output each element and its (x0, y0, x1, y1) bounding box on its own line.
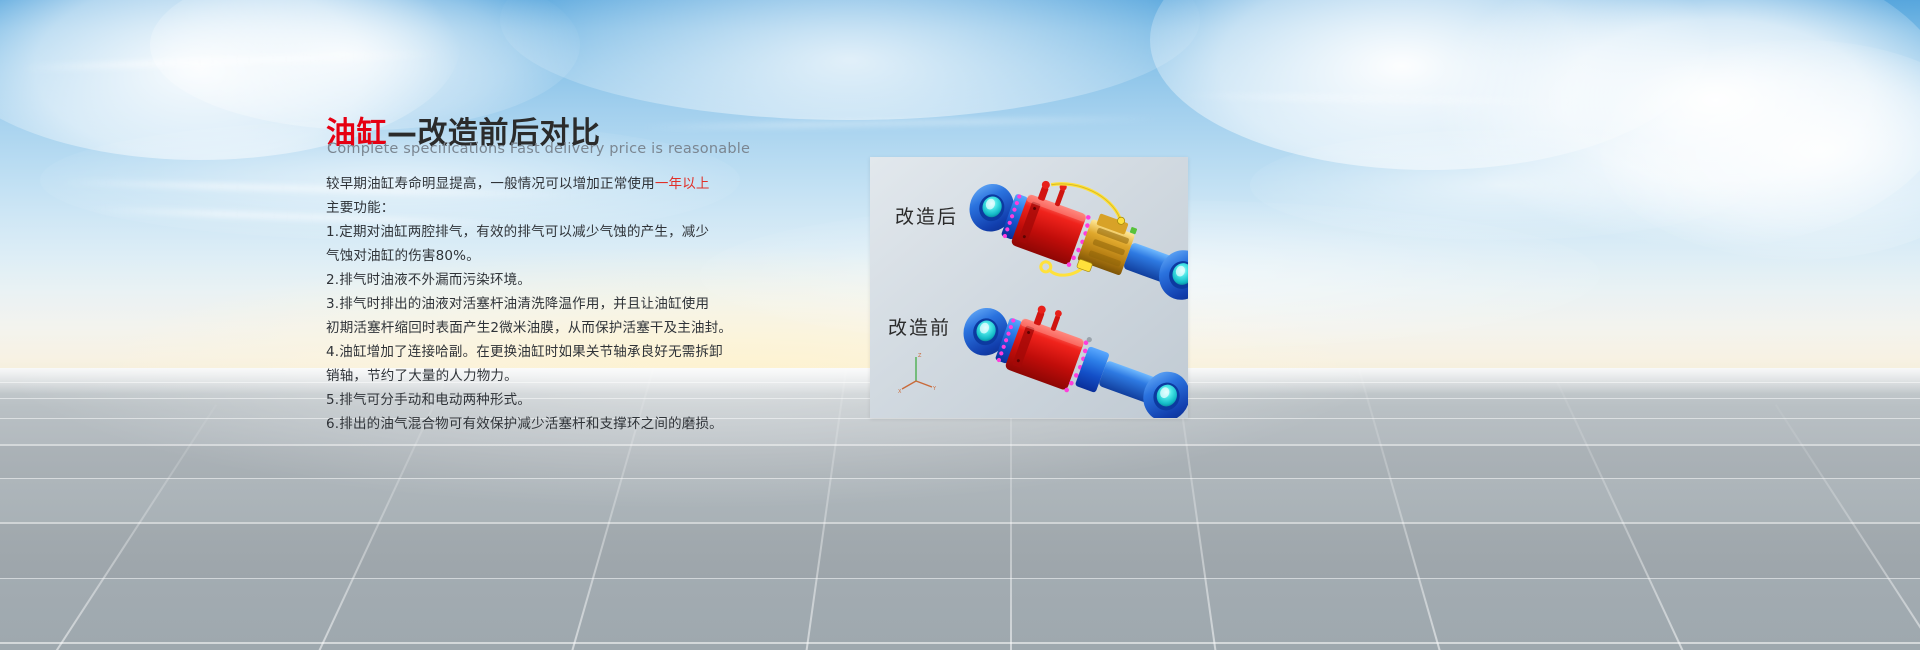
feature-line: 主要功能： (326, 196, 746, 220)
feature-line: 2.排气时油液不外漏而污染环境。 (326, 268, 746, 292)
feature-line: 5.排气可分手动和电动两种形式。 (326, 388, 746, 412)
feature-line-text: 4.油缸增加了连接哈副。在更换油缸时如果关节轴承良好无需拆卸 (326, 344, 723, 360)
feature-line-text: 5.排气可分手动和电动两种形式。 (326, 392, 531, 408)
feature-line-text: 3.排气时排出的油液对活塞杆油清洗降温作用，并且让油缸使用 (326, 296, 709, 312)
svg-text:X: X (898, 389, 902, 395)
feature-line-text: 1.定期对油缸两腔排气，有效的排气可以减少气蚀的产生，减少 (326, 224, 709, 240)
feature-line-text: 主要功能： (326, 200, 395, 216)
comparison-image-panel: Z X Y 改造后 改造前 (870, 157, 1188, 418)
feature-description-list: 较早期油缸寿命明显提高，一般情况可以增加正常使用一年以上主要功能：1.定期对油缸… (326, 172, 746, 436)
label-after-modification: 改造后 (895, 202, 958, 229)
label-before-modification: 改造前 (888, 313, 951, 340)
feature-line: 销轴，节约了大量的人力物力。 (326, 364, 746, 388)
feature-line-highlight: 一年以上 (655, 176, 710, 192)
banner-stage: 油缸—改造前后对比 Complete specifications Fast d… (0, 0, 1920, 650)
svg-text:Z: Z (918, 353, 922, 359)
feature-line: 1.定期对油缸两腔排气，有效的排气可以减少气蚀的产生，减少 (326, 220, 746, 244)
feature-line-text: 较早期油缸寿命明显提高，一般情况可以增加正常使用 (326, 176, 655, 192)
feature-line: 气蚀对油缸的伤害80%。 (326, 244, 746, 268)
feature-line: 3.排气时排出的油液对活塞杆油清洗降温作用，并且让油缸使用 (326, 292, 746, 316)
feature-line-text: 2.排气时油液不外漏而污染环境。 (326, 272, 531, 288)
feature-line: 4.油缸增加了连接哈副。在更换油缸时如果关节轴承良好无需拆卸 (326, 340, 746, 364)
feature-line-text: 气蚀对油缸的伤害80%。 (326, 248, 480, 264)
feature-line-text: 初期活塞杆缩回时表面产生2微米油膜，从而保护活塞干及主油封。 (326, 320, 732, 336)
hydraulic-cylinder-diagram: Z X Y (870, 157, 1188, 418)
feature-line-text: 销轴，节约了大量的人力物力。 (326, 368, 518, 384)
feature-line: 初期活塞杆缩回时表面产生2微米油膜，从而保护活塞干及主油封。 (326, 316, 746, 340)
feature-line-text: 6.排出的油气混合物可有效保护减少活塞杆和支撑环之间的磨损。 (326, 416, 723, 432)
feature-line: 较早期油缸寿命明显提高，一般情况可以增加正常使用一年以上 (326, 172, 746, 196)
feature-line: 6.排出的油气混合物可有效保护减少活塞杆和支撑环之间的磨损。 (326, 412, 746, 436)
page-subtitle: Complete specifications Fast delivery pr… (327, 141, 750, 157)
